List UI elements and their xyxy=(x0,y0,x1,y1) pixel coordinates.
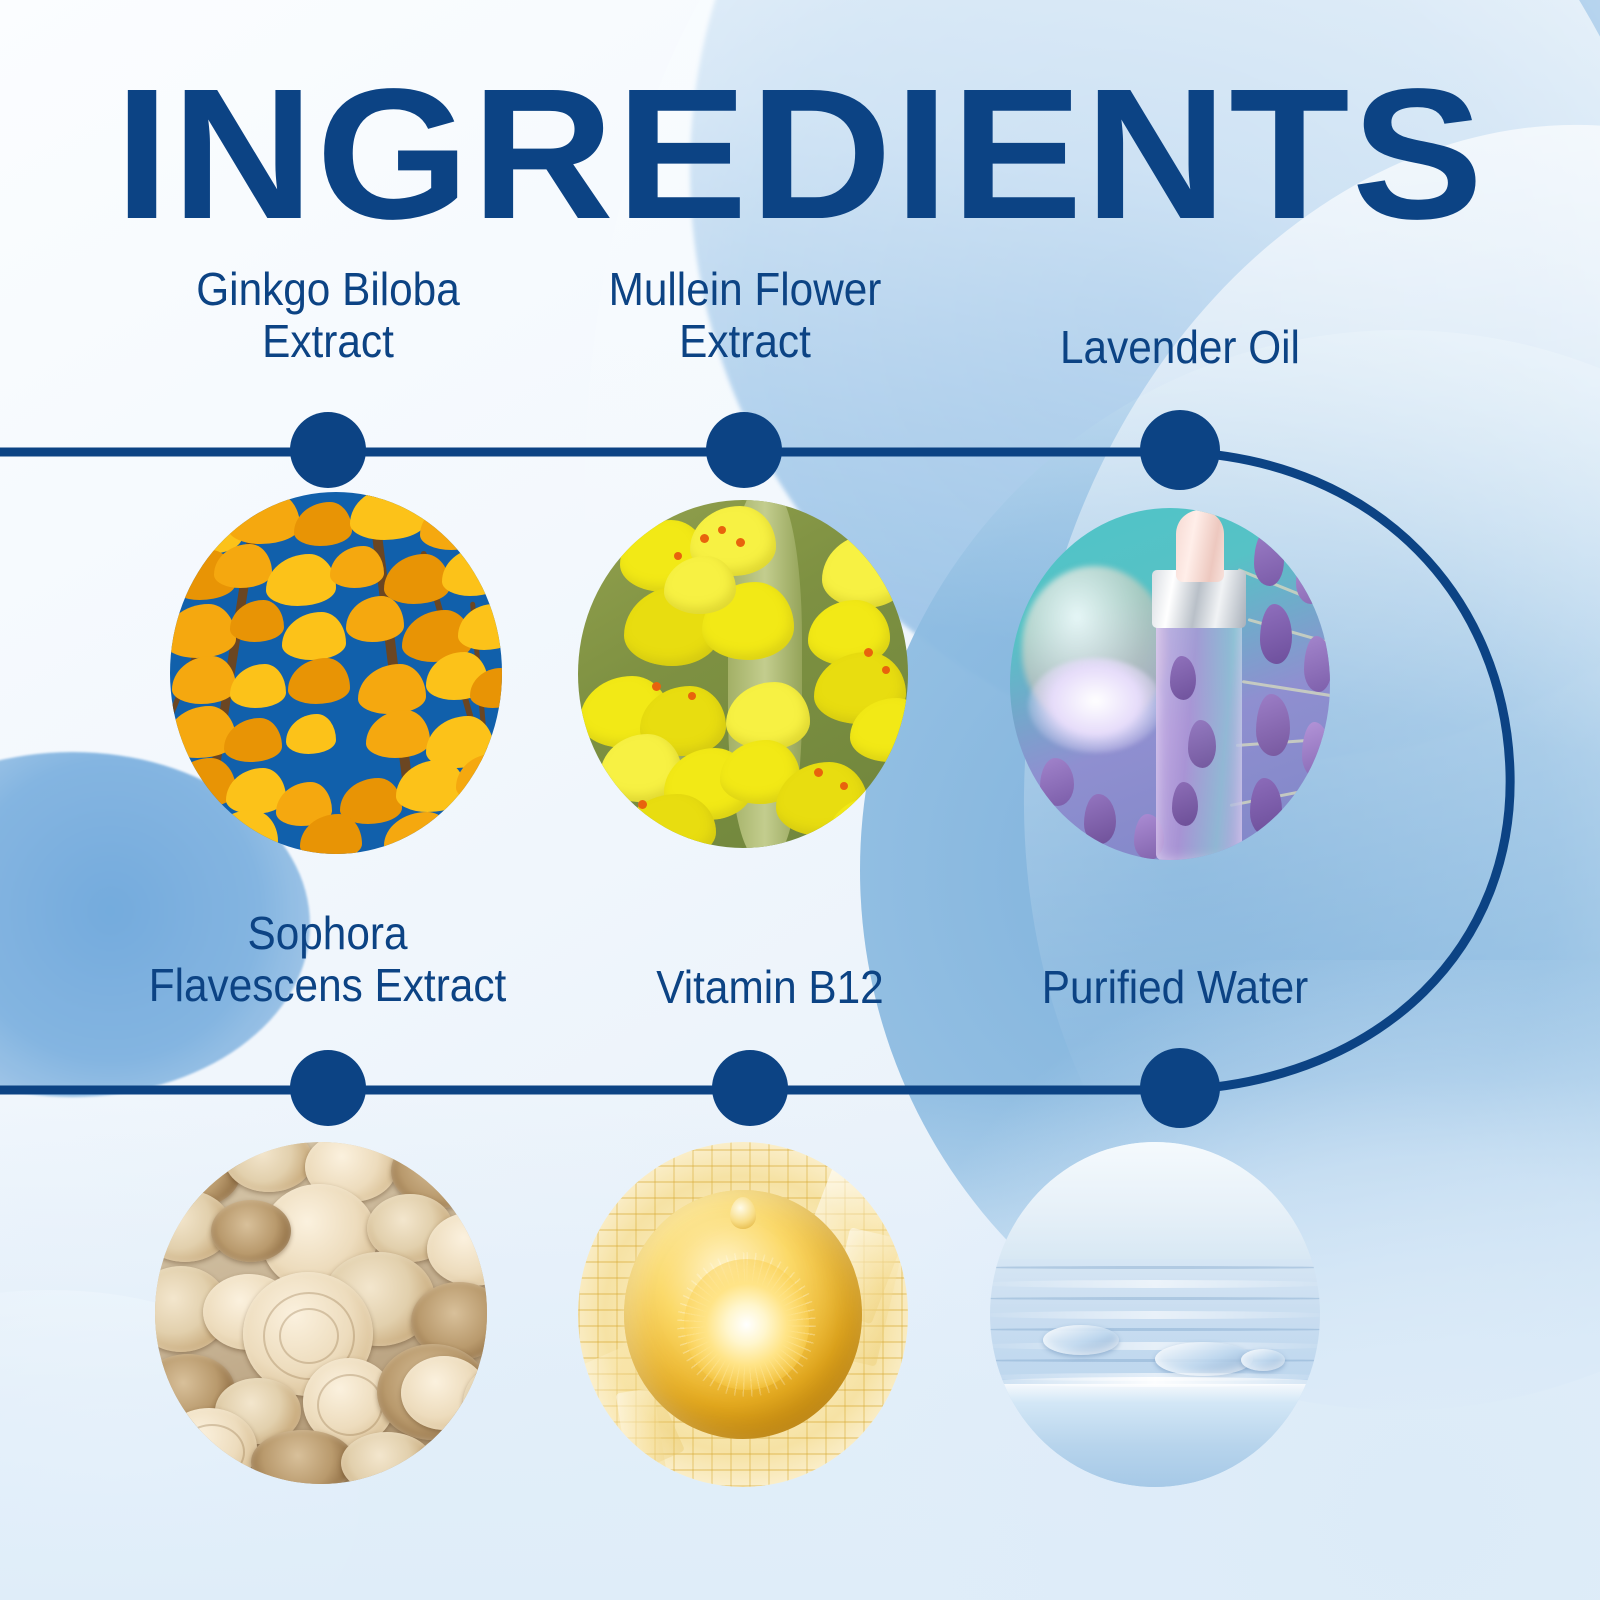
ingredient-label-line1: Purified Water xyxy=(991,962,1359,1014)
ingredient-label-vitamin-b12: Vitamin B12 xyxy=(595,962,945,1014)
timeline-graphic xyxy=(0,0,1600,1600)
ingredient-label-purified-water: Purified Water xyxy=(991,962,1359,1014)
ingredient-label-sophora-flavescens: Sophora Flavescens Extract xyxy=(91,908,565,1011)
timeline-dot-sophora-flavescens[interactable] xyxy=(290,1050,366,1126)
timeline-dot-purified-water[interactable] xyxy=(1140,1048,1220,1128)
ingredient-label-line1: Sophora xyxy=(91,908,565,960)
timeline-dot-lavender-oil[interactable] xyxy=(1140,410,1220,490)
ingredient-label-line2: Extract xyxy=(566,316,925,368)
ingredient-label-line1: Mullein Flower xyxy=(566,264,925,316)
timeline-dot-mullein-flower[interactable] xyxy=(706,412,782,488)
ingredient-label-line1: Vitamin B12 xyxy=(595,962,945,1014)
ingredient-label-line2: Flavescens Extract xyxy=(91,960,565,1012)
timeline-dot-vitamin-b12[interactable] xyxy=(712,1050,788,1126)
ingredient-label-mullein-flower: Mullein Flower Extract xyxy=(566,264,925,367)
ingredient-label-line2: Extract xyxy=(153,316,503,368)
ingredient-label-line1: Ginkgo Biloba xyxy=(153,264,503,316)
ingredient-label-line1: Lavender Oil xyxy=(1005,322,1355,374)
ingredients-poster: INGREDIENTS xyxy=(0,0,1600,1600)
timeline-dot-ginkgo-biloba[interactable] xyxy=(290,412,366,488)
ingredient-label-ginkgo-biloba: Ginkgo Biloba Extract xyxy=(153,264,503,367)
ingredient-label-lavender-oil: Lavender Oil xyxy=(1005,322,1355,374)
